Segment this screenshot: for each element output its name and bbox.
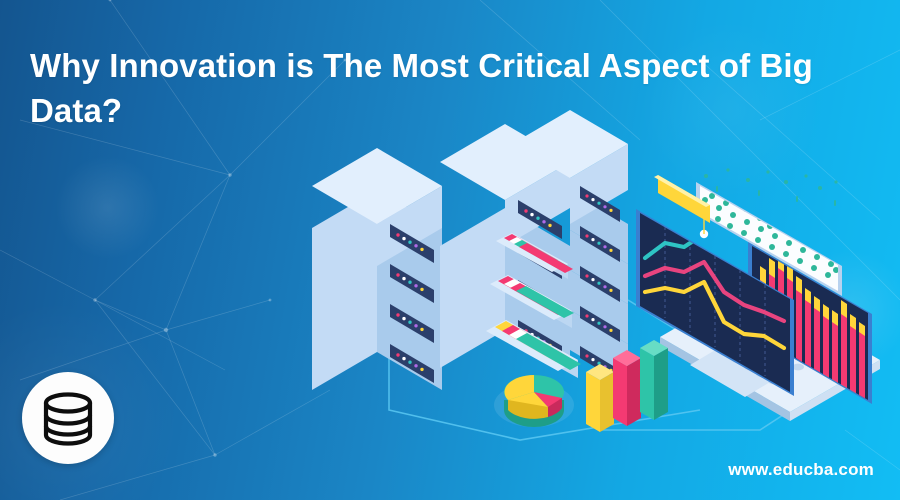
page-title: Why Innovation is The Most Critical Aspe… — [30, 44, 840, 134]
site-watermark: www.educba.com — [728, 460, 874, 480]
pie-chart — [494, 375, 574, 427]
database-icon — [41, 390, 95, 446]
server-rack-left — [312, 148, 442, 390]
bar-item — [613, 350, 641, 426]
banner: Why Innovation is The Most Critical Aspe… — [0, 0, 900, 500]
educba-logo — [22, 372, 114, 464]
bar-item — [586, 364, 614, 432]
bar-item — [640, 340, 668, 420]
